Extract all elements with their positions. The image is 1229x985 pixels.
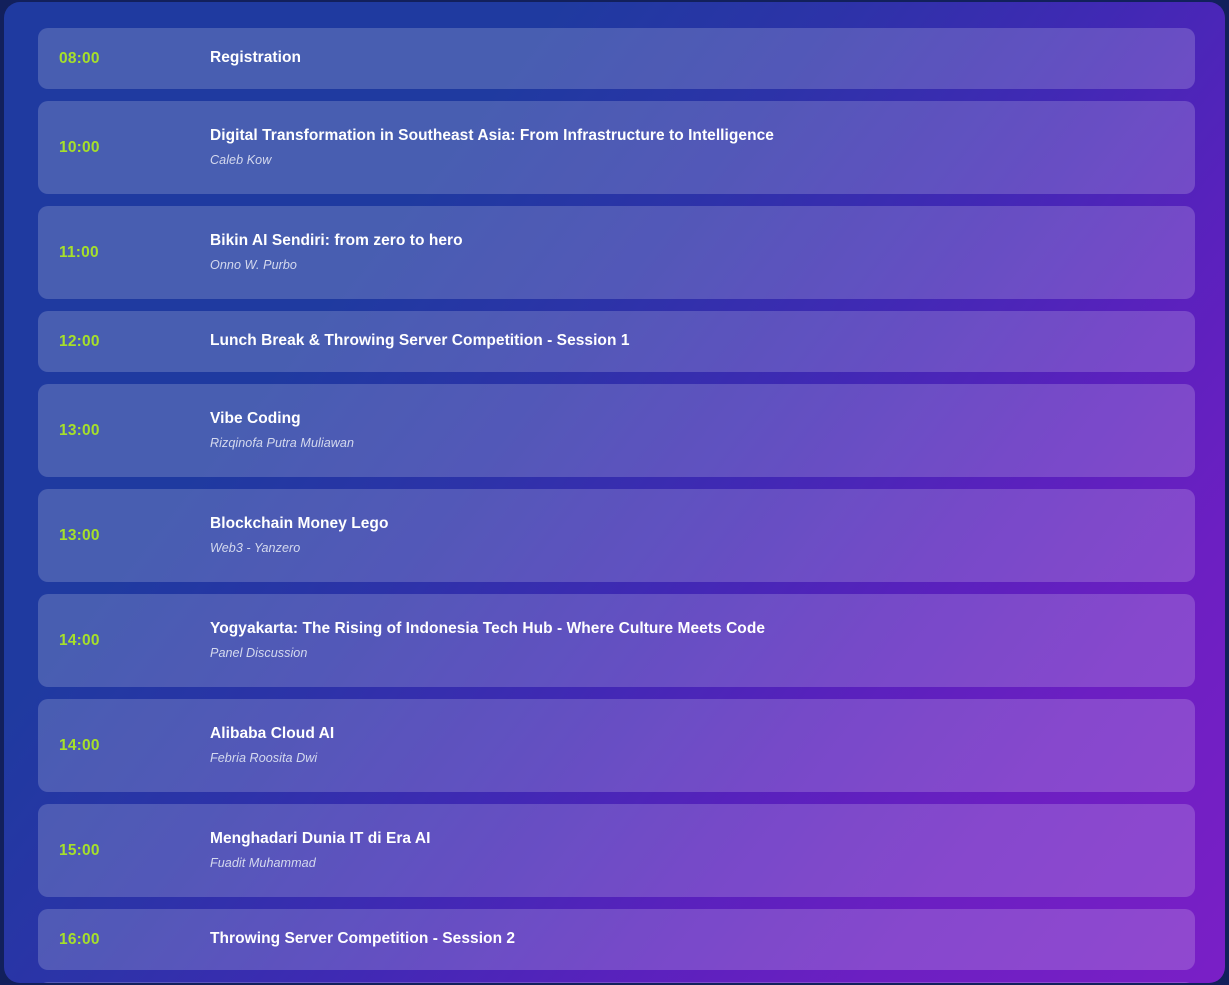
session-title: Vibe Coding xyxy=(210,410,1171,429)
schedule-row[interactable]: 08:00Registration xyxy=(38,28,1195,89)
session-time: 14:00 xyxy=(38,633,210,649)
session-time: 13:00 xyxy=(38,423,210,439)
schedule-page: 08:00Registration10:00Digital Transforma… xyxy=(4,2,1225,983)
schedule-row[interactable]: 14:00Alibaba Cloud AIFebria Roosita Dwi xyxy=(38,699,1195,792)
schedule-row[interactable]: 15:00Menghadari Dunia IT di Era AIFuadit… xyxy=(38,804,1195,897)
session-title: Yogyakarta: The Rising of Indonesia Tech… xyxy=(210,620,1171,639)
session-speaker: Rizqinofa Putra Muliawan xyxy=(210,437,1171,451)
session-time: 10:00 xyxy=(38,140,210,156)
session-details: Digital Transformation in Southeast Asia… xyxy=(210,127,1195,167)
schedule-row[interactable]: 13:00Blockchain Money LegoWeb3 - Yanzero xyxy=(38,489,1195,582)
session-time: 13:00 xyxy=(38,528,210,544)
session-speaker: Onno W. Purbo xyxy=(210,259,1171,273)
session-title: Menghadari Dunia IT di Era AI xyxy=(210,830,1171,849)
schedule-row[interactable]: 17:00Doorprize & Winner Announcement xyxy=(38,982,1195,983)
session-title: Registration xyxy=(210,49,1171,68)
session-speaker: Web3 - Yanzero xyxy=(210,542,1171,556)
session-time: 16:00 xyxy=(38,932,210,948)
schedule-row[interactable]: 10:00Digital Transformation in Southeast… xyxy=(38,101,1195,194)
schedule-row[interactable]: 13:00Vibe CodingRizqinofa Putra Muliawan xyxy=(38,384,1195,477)
session-title: Bikin AI Sendiri: from zero to hero xyxy=(210,232,1171,251)
schedule-row[interactable]: 14:00Yogyakarta: The Rising of Indonesia… xyxy=(38,594,1195,687)
session-title: Throwing Server Competition - Session 2 xyxy=(210,930,1171,949)
session-title: Lunch Break & Throwing Server Competitio… xyxy=(210,332,1171,351)
session-details: Menghadari Dunia IT di Era AIFuadit Muha… xyxy=(210,830,1195,870)
session-details: Yogyakarta: The Rising of Indonesia Tech… xyxy=(210,620,1195,660)
session-details: Vibe CodingRizqinofa Putra Muliawan xyxy=(210,410,1195,450)
session-details: Blockchain Money LegoWeb3 - Yanzero xyxy=(210,515,1195,555)
schedule-row[interactable]: 11:00Bikin AI Sendiri: from zero to hero… xyxy=(38,206,1195,299)
session-time: 11:00 xyxy=(38,245,210,261)
session-details: Bikin AI Sendiri: from zero to heroOnno … xyxy=(210,232,1195,272)
session-title: Digital Transformation in Southeast Asia… xyxy=(210,127,1171,146)
schedule-row[interactable]: 12:00Lunch Break & Throwing Server Compe… xyxy=(38,311,1195,372)
session-title: Blockchain Money Lego xyxy=(210,515,1171,534)
session-title: Alibaba Cloud AI xyxy=(210,725,1171,744)
session-speaker: Panel Discussion xyxy=(210,647,1171,661)
session-time: 12:00 xyxy=(38,334,210,350)
schedule-list: 08:00Registration10:00Digital Transforma… xyxy=(38,28,1195,983)
session-time: 15:00 xyxy=(38,843,210,859)
session-speaker: Fuadit Muhammad xyxy=(210,857,1171,871)
session-time: 14:00 xyxy=(38,738,210,754)
schedule-row[interactable]: 16:00Throwing Server Competition - Sessi… xyxy=(38,909,1195,970)
session-details: Registration xyxy=(210,49,1195,68)
session-details: Throwing Server Competition - Session 2 xyxy=(210,930,1195,949)
session-speaker: Febria Roosita Dwi xyxy=(210,752,1171,766)
session-details: Alibaba Cloud AIFebria Roosita Dwi xyxy=(210,725,1195,765)
session-time: 08:00 xyxy=(38,51,210,67)
session-details: Lunch Break & Throwing Server Competitio… xyxy=(210,332,1195,351)
session-speaker: Caleb Kow xyxy=(210,154,1171,168)
